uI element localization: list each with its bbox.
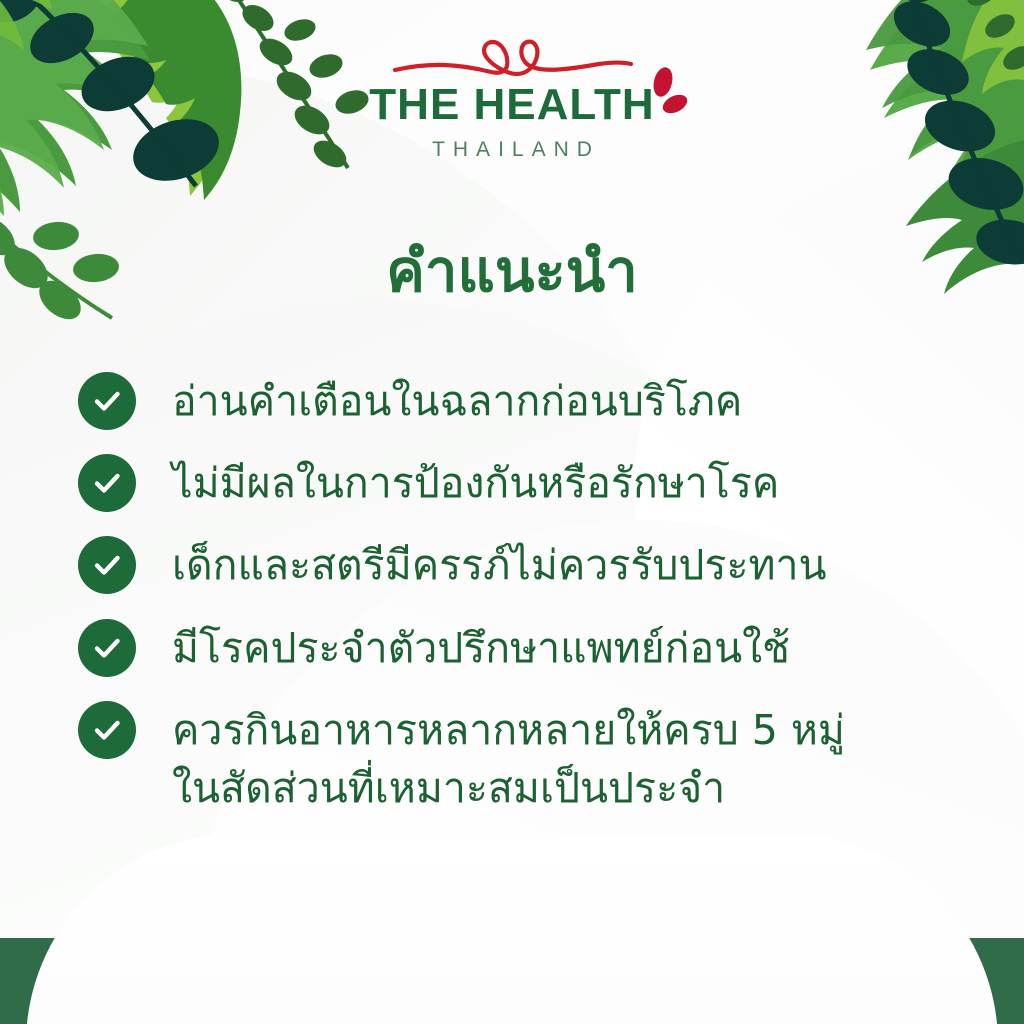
list-item: ไม่มีผลในการป้องกันหรือรักษาโรค xyxy=(78,452,984,512)
brand-subtitle: THAILAND xyxy=(0,138,1024,162)
list-item-line-1: มีโรคประจำตัวปรึกษาแพทย์ก่อนใช้ xyxy=(172,624,790,672)
list-item-line-2: ในสัดส่วนที่เหมาะสมเป็นประจำ xyxy=(172,759,845,817)
page-title: คำแนะนำ xyxy=(0,238,1024,305)
list-item: เด็กและสตรีมีครรภ์ไม่ควรรับประทาน xyxy=(78,534,984,594)
list-item-line-1: เด็กและสตรีมีครรภ์ไม่ควรรับประทาน xyxy=(172,541,827,589)
check-circle-icon xyxy=(78,619,136,677)
poster-canvas: THE HEALTH THAILAND คำแนะนำ อ่านคำเตือนใ… xyxy=(0,0,1024,1024)
list-item: อ่านคำเตือนในฉลากก่อนบริโภค xyxy=(78,370,984,430)
list-item: มีโรคประจำตัวปรึกษาแพทย์ก่อนใช้ xyxy=(78,617,984,677)
brand-wordmark: THE HEALTH xyxy=(369,82,654,128)
list-item-label: มีโรคประจำตัวปรึกษาแพทย์ก่อนใช้ xyxy=(172,617,790,677)
list-item-line-1: อ่านคำเตือนในฉลากก่อนบริโภค xyxy=(172,377,742,425)
list-item-label: ควรกินอาหารหลากหลายให้ครบ 5 หมู่ ในสัดส่… xyxy=(172,699,845,817)
check-circle-icon xyxy=(78,701,136,759)
recommendation-list: อ่านคำเตือนในฉลากก่อนบริโภค ไม่มีผลในการ… xyxy=(78,370,984,839)
red-leaf-petals-icon xyxy=(649,66,689,122)
bottom-white-curve xyxy=(26,834,998,1024)
check-circle-icon xyxy=(78,454,136,512)
brand-logo: THE HEALTH THAILAND xyxy=(0,34,1024,162)
list-item-label: อ่านคำเตือนในฉลากก่อนบริโภค xyxy=(172,370,742,430)
list-item-label: เด็กและสตรีมีครรภ์ไม่ควรรับประทาน xyxy=(172,534,827,594)
wordmark-row: THE HEALTH xyxy=(369,82,654,128)
list-item-label: ไม่มีผลในการป้องกันหรือรักษาโรค xyxy=(172,452,779,512)
list-item: ควรกินอาหารหลากหลายให้ครบ 5 หมู่ ในสัดส่… xyxy=(78,699,984,817)
check-circle-icon xyxy=(78,536,136,594)
heart-line-icon xyxy=(387,34,637,80)
list-item-line-1: ไม่มีผลในการป้องกันหรือรักษาโรค xyxy=(172,459,779,507)
list-item-line-1: ควรกินอาหารหลากหลายให้ครบ 5 หมู่ xyxy=(172,706,845,754)
check-circle-icon xyxy=(78,372,136,430)
